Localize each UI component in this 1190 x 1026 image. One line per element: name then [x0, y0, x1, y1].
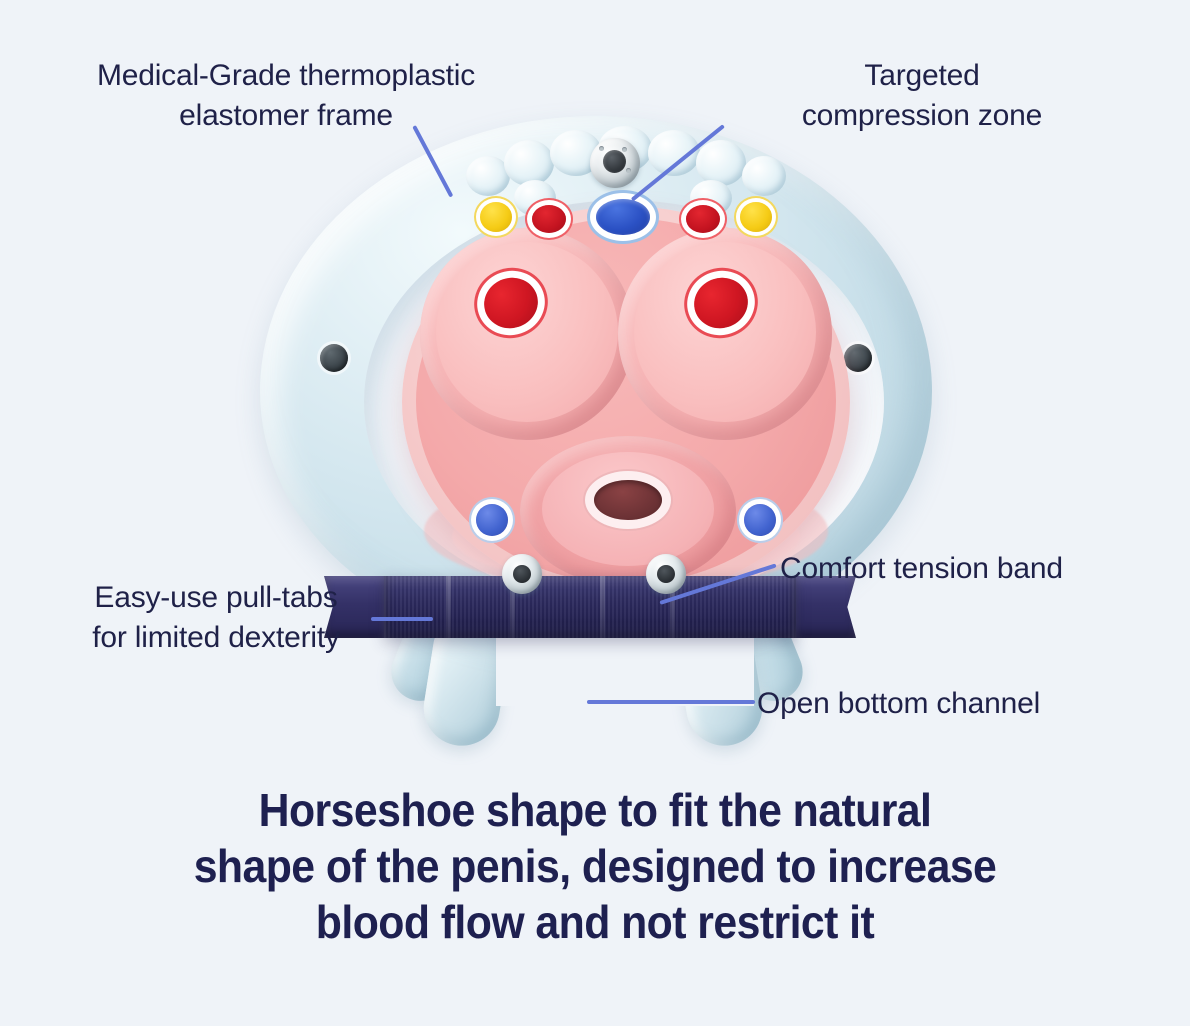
- dorsal-nerve-right: [740, 202, 772, 232]
- band-body: [384, 576, 796, 638]
- compression-pad: [742, 156, 786, 196]
- dorsal-nerve-left: [480, 202, 512, 232]
- band-seam: [600, 576, 605, 638]
- callout-frame-material: Medical-Grade thermoplastic elastomer fr…: [66, 56, 506, 136]
- headline: Horseshoe shape to fit the natural shape…: [42, 782, 1149, 950]
- corpus-cavernosum-left: [420, 228, 634, 440]
- leader-line-open-bottom-channel: [587, 700, 755, 704]
- compression-pad: [696, 140, 746, 186]
- band-seam: [446, 576, 451, 638]
- callout-tension-band: Comfort tension band: [780, 549, 1100, 589]
- anatomy-cross-section: [396, 204, 856, 604]
- dorsal-artery-left: [532, 205, 566, 233]
- band-eyelet-left[interactable]: [502, 554, 542, 594]
- screw-core: [603, 150, 626, 173]
- band-eyelet-right[interactable]: [646, 554, 686, 594]
- callout-pull-tabs: Easy-use pull-tabs for limited dexterity: [66, 578, 366, 658]
- eyelet-core: [513, 565, 531, 583]
- infographic-canvas: Medical-Grade thermoplastic elastomer fr…: [0, 0, 1190, 1026]
- dorsal-vein: [596, 199, 650, 235]
- compression-pad: [504, 140, 554, 186]
- eyelet-core: [657, 565, 675, 583]
- device-illustration: [232, 108, 962, 768]
- corpus-spongiosum: [520, 436, 736, 586]
- callout-compression-zone: Targeted compression zone: [762, 56, 1082, 136]
- circumflex-vein-left: [476, 504, 508, 536]
- urethra: [594, 480, 662, 520]
- circumflex-vein-right: [744, 504, 776, 536]
- adjustment-screw-icon[interactable]: [590, 138, 640, 188]
- comfort-tension-band[interactable]: [384, 576, 796, 638]
- corpus-cavernosum-right: [618, 228, 832, 440]
- dorsal-artery-right: [686, 205, 720, 233]
- cavernosum-core-right: [634, 242, 816, 422]
- callout-open-bottom-channel: Open bottom channel: [757, 684, 1097, 724]
- cavernosum-core-left: [436, 242, 618, 422]
- side-port-left[interactable]: [320, 344, 348, 372]
- leader-line-pull-tabs: [371, 617, 433, 621]
